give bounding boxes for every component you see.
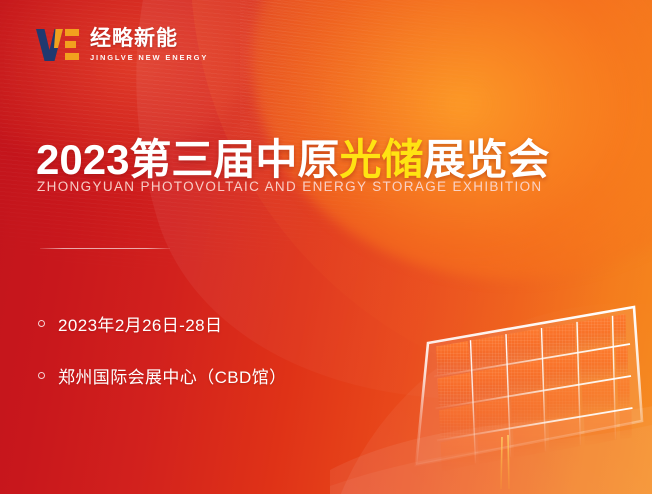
headline-part-1: 2023第三届中原 <box>36 136 339 183</box>
section-divider <box>40 248 170 249</box>
circle-bullet-icon <box>38 320 45 327</box>
brand-name-en: JINGLVE NEW ENERGY <box>90 54 208 62</box>
exhibition-poster: 经略新能 JINGLVE NEW ENERGY 2023第三届中原光储展览会 Z… <box>0 0 652 494</box>
circle-bullet-icon <box>38 372 45 379</box>
headline-accent: 光储 <box>339 136 423 183</box>
solar-panel-array <box>392 279 652 494</box>
event-venue: 郑州国际会展中心（CBD馆） <box>58 363 287 388</box>
list-item: 郑州国际会展中心（CBD馆） <box>38 357 287 393</box>
background-swoosh-light <box>31 0 652 494</box>
brand-logo-text: 经略新能 JINGLVE NEW ENERGY <box>90 28 208 62</box>
event-date: 2023年2月26日-28日 <box>58 311 222 336</box>
background-swoosh-orange <box>108 0 652 484</box>
ve-monogram-icon <box>36 28 80 62</box>
background-wave-bottom <box>330 374 652 494</box>
background-swoosh-bottom <box>302 263 652 494</box>
poster-headline: 2023第三届中原光储展览会 <box>36 126 549 187</box>
brand-name-cn: 经略新能 <box>90 28 208 49</box>
event-info-list: 2023年2月26日-28日 郑州国际会展中心（CBD馆） <box>38 305 287 409</box>
headline-part-2: 展览会 <box>423 136 549 183</box>
list-item: 2023年2月26日-28日 <box>38 305 287 341</box>
poster-subtitle: ZHONGYUAN PHOTOVOLTAIC AND ENERGY STORAG… <box>37 179 543 194</box>
brand-logo[interactable]: 经略新能 JINGLVE NEW ENERGY <box>36 28 208 62</box>
